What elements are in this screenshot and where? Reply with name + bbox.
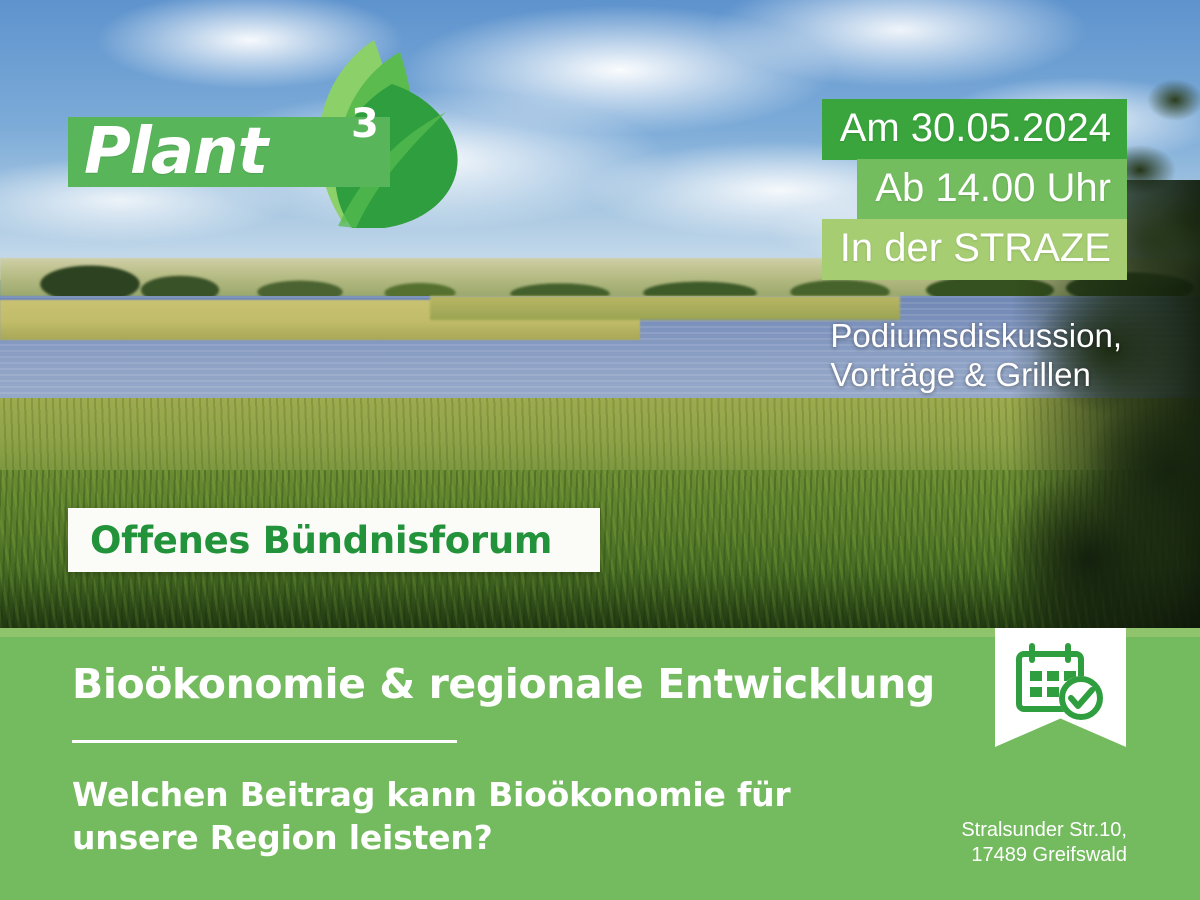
panel-question: Welchen Beitrag kann Bioökonomie für uns…	[72, 773, 791, 859]
logo-wordmark: Plant	[84, 120, 267, 184]
plant3-logo: Plant 3	[68, 38, 458, 228]
panel-question-line1: Welchen Beitrag kann Bioökonomie für	[72, 773, 791, 816]
photo-bottom-shade	[0, 568, 1200, 628]
date-box-venue: In der STRAZE	[822, 219, 1127, 280]
panel-question-line2: unsere Region leisten?	[72, 816, 791, 859]
headline-banner-text: Offenes Bündnisforum	[90, 519, 552, 562]
logo-superscript: 3	[351, 104, 379, 144]
date-box-time: Ab 14.00 Uhr	[857, 159, 1127, 220]
panel-divider	[72, 740, 457, 743]
program-note-line2: Vorträge & Grillen	[830, 355, 1122, 394]
program-note: Podiumsdiskussion, Vorträge & Grillen	[830, 316, 1122, 394]
date-box-date: Am 30.05.2024	[822, 99, 1127, 160]
venue-address-line1: Stralsunder Str.10,	[961, 818, 1127, 843]
headline-banner: Offenes Bündnisforum	[68, 508, 600, 572]
program-note-line1: Podiumsdiskussion,	[830, 316, 1122, 355]
event-poster: Plant 3 Am 30.05.2024 Ab 14.00 Uhr In de…	[0, 0, 1200, 900]
panel-heading: Bioökonomie & regionale Entwicklung	[72, 660, 935, 708]
venue-address: Stralsunder Str.10, 17489 Greifswald	[961, 818, 1127, 868]
venue-address-line2: 17489 Greifswald	[961, 843, 1127, 868]
calendar-check-icon	[1014, 642, 1108, 724]
